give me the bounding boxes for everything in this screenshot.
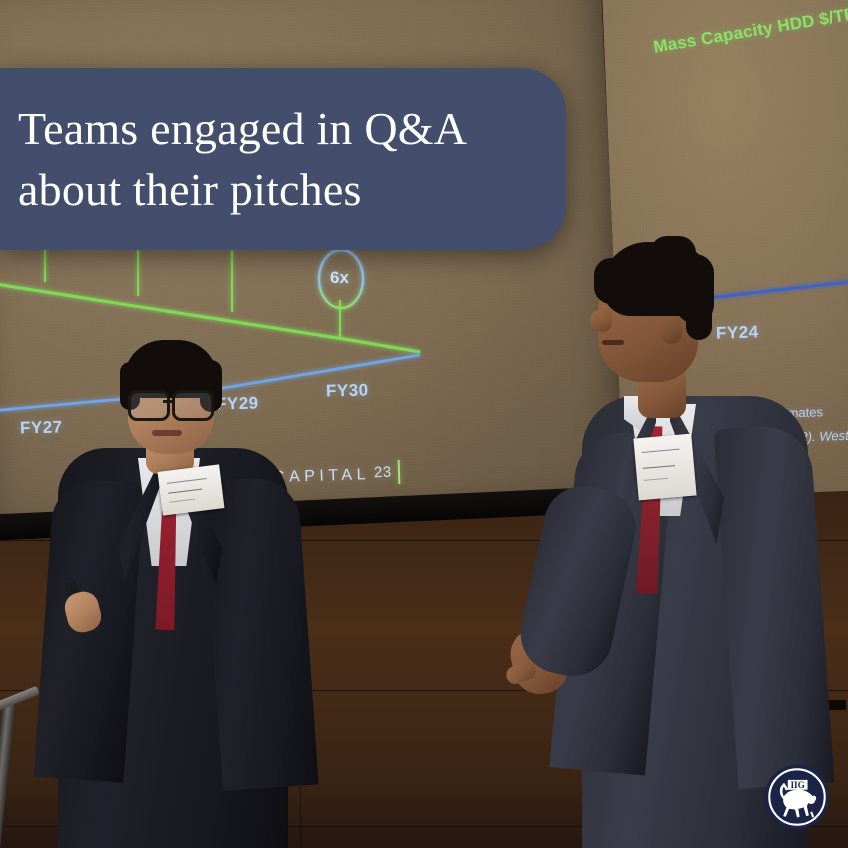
caption-text: Teams engaged in Q&A about their pitches bbox=[0, 98, 501, 220]
iig-logo-svg: IIG bbox=[764, 764, 830, 830]
iig-logo: IIG bbox=[764, 764, 830, 830]
caption-panel: Teams engaged in Q&A about their pitches bbox=[0, 68, 566, 250]
slide-image: Mass Capacity HDD $/TB 6x FY27 FY29 FY30… bbox=[0, 0, 848, 848]
presenter-right bbox=[490, 236, 820, 848]
name-badge bbox=[633, 434, 696, 501]
name-badge bbox=[158, 464, 225, 515]
caption-line-2: about their pitches bbox=[18, 159, 467, 220]
presenter-left bbox=[40, 330, 310, 848]
caption-line-1: Teams engaged in Q&A bbox=[18, 98, 467, 159]
iig-monogram: IIG bbox=[790, 780, 804, 790]
